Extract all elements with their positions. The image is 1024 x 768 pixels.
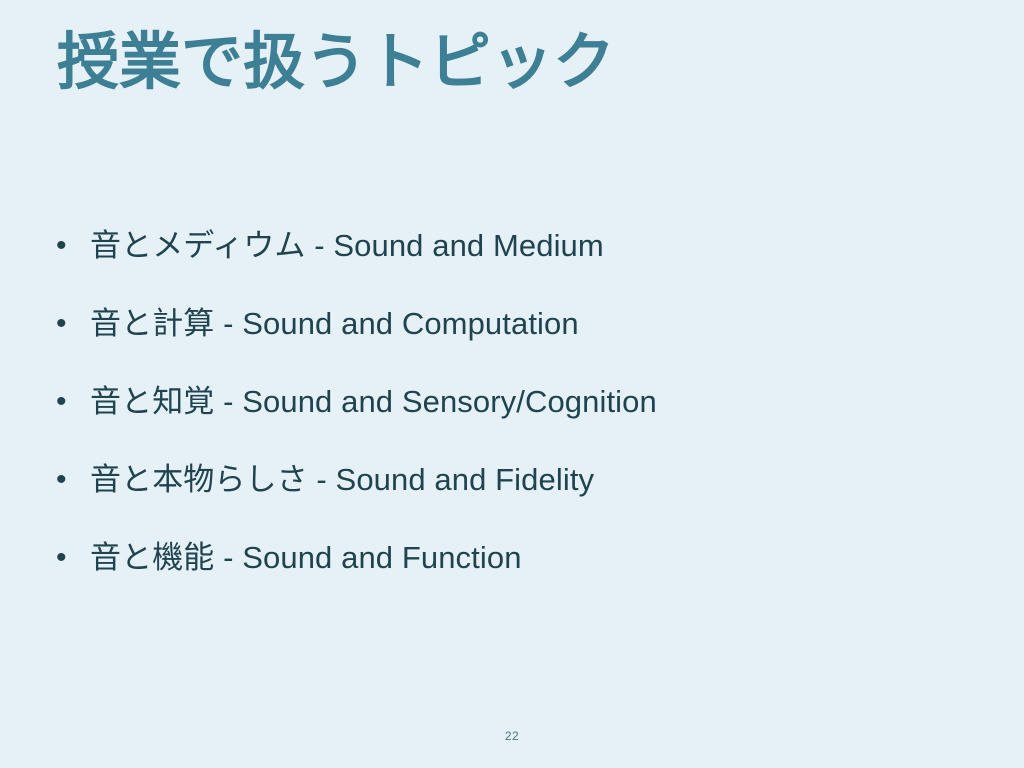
list-item: • 音とメディウム - Sound and Medium: [50, 228, 950, 306]
page-title: 授業で扱うトピック: [57, 27, 615, 98]
bullet-icon: •: [50, 540, 90, 576]
bullet-icon: •: [50, 306, 90, 342]
list-item-label: 音と本物らしさ - Sound and Fidelity: [90, 462, 950, 498]
slide: 授業で扱うトピック • 音とメディウム - Sound and Medium •…: [0, 0, 1024, 768]
topic-list: • 音とメディウム - Sound and Medium • 音と計算 - So…: [50, 228, 950, 618]
list-item: • 音と機能 - Sound and Function: [50, 540, 950, 618]
bullet-icon: •: [50, 384, 90, 420]
list-item: • 音と知覚 - Sound and Sensory/Cognition: [50, 384, 950, 462]
bullet-icon: •: [50, 462, 90, 498]
list-item: • 音と計算 - Sound and Computation: [50, 306, 950, 384]
bullet-icon: •: [50, 228, 90, 264]
list-item-label: 音と計算 - Sound and Computation: [90, 306, 950, 342]
list-item-label: 音とメディウム - Sound and Medium: [90, 228, 950, 264]
list-item-label: 音と知覚 - Sound and Sensory/Cognition: [90, 384, 950, 420]
list-item: • 音と本物らしさ - Sound and Fidelity: [50, 462, 950, 540]
page-number: 22: [0, 729, 1024, 743]
list-item-label: 音と機能 - Sound and Function: [90, 540, 950, 576]
